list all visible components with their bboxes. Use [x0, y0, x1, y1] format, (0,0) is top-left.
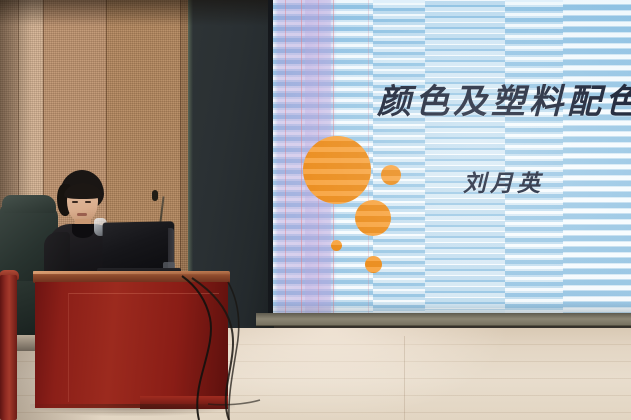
microphone-capsule-icon [152, 190, 158, 201]
presenter-eye-right [85, 201, 91, 203]
projection-screen: 颜色及塑料配色 刘月英 [273, 0, 631, 314]
presenter-eye-left [72, 201, 78, 203]
screen-vertical-line-2 [301, 0, 302, 314]
presenter-collar [72, 224, 94, 238]
screen-vertical-line-1 [285, 0, 286, 314]
red-wooden-post [0, 275, 17, 420]
slide-bubble-medium [355, 200, 391, 236]
screen-band-d [505, 2, 563, 314]
slide-bubble-tiny [331, 240, 342, 251]
screen-band-c [425, 0, 505, 310]
podium-worktop-highlight [33, 271, 230, 274]
slide-bubble-large [303, 136, 371, 204]
slide-presenter-name: 刘月英 [463, 164, 544, 198]
podium-panel-inset [68, 293, 219, 402]
floor-vertical-seam [404, 336, 405, 420]
slide-bubble-small [381, 165, 401, 185]
podium-floor-shadow [30, 404, 235, 416]
slide-bubble-tiny-2 [365, 256, 382, 273]
floor-light-reflection [210, 328, 510, 420]
lecture-hall-scene: 颜色及塑料配色 刘月英 [0, 0, 631, 420]
presenter-mouth [77, 213, 87, 216]
screen-band-e [563, 0, 631, 313]
slide-title: 颜色及塑料配色 [377, 74, 631, 123]
